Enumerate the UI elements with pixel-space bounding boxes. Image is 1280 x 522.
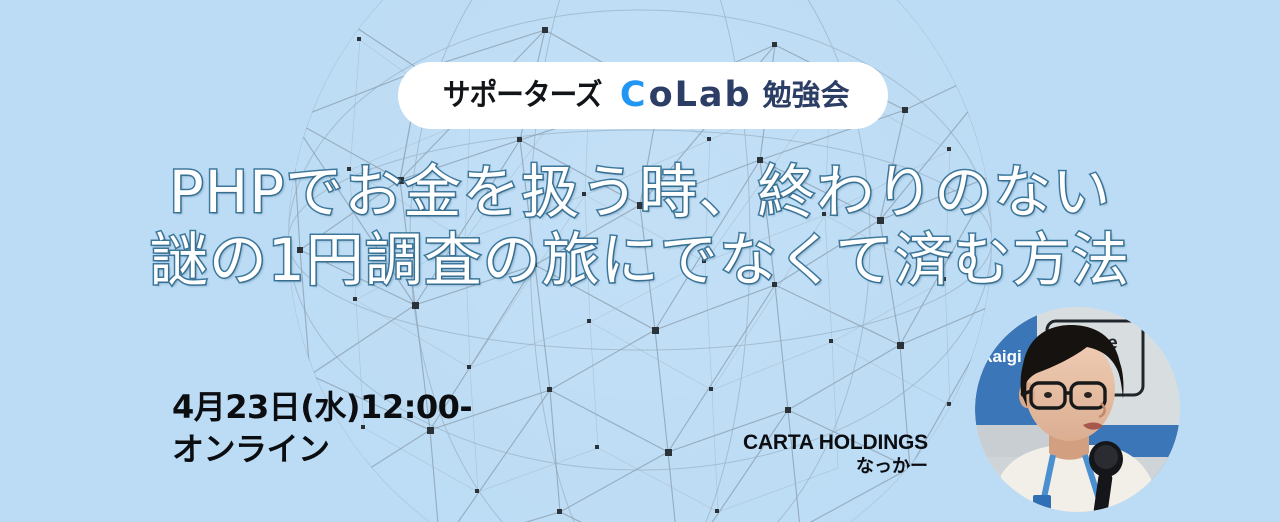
- event-info: 4月23日(水)12:00- オンライン: [172, 386, 472, 470]
- speaker-organization: CARTA HOLDINGS: [660, 430, 928, 455]
- speaker-name: なっかー: [660, 455, 928, 479]
- logo-benkyokai-text: 勉強会: [763, 81, 850, 110]
- title-line-1: PHPでお金を扱う時、終わりのない: [0, 158, 1280, 226]
- logo-colab-c-letter: C: [620, 78, 646, 113]
- supporterz-colab-logo: サポーターズ C oLab 勉強会: [398, 62, 888, 129]
- speaker-photo: Spiae us o. kaigi: [975, 307, 1180, 512]
- svg-text:kaigi: kaigi: [983, 347, 1022, 366]
- event-venue: オンライン: [172, 428, 472, 470]
- title-line-2: 謎の1円調査の旅にでなくて済む方法: [0, 226, 1280, 294]
- logo-colab: C oLab: [620, 78, 752, 113]
- event-poster: サポーターズ C oLab 勉強会 PHPでお金を扱う時、終わりのない 謎の1円…: [0, 0, 1280, 522]
- logo-colab-rest-letters: oLab: [649, 78, 752, 113]
- poster-title: PHPでお金を扱う時、終わりのない 謎の1円調査の旅にでなくて済む方法: [0, 158, 1280, 294]
- event-datetime: 4月23日(水)12:00-: [172, 386, 472, 428]
- speaker-avatar: Spiae us o. kaigi: [975, 307, 1180, 512]
- logo-supporterz-text: サポーターズ: [443, 81, 602, 111]
- speaker-info: CARTA HOLDINGS なっかー: [660, 430, 928, 479]
